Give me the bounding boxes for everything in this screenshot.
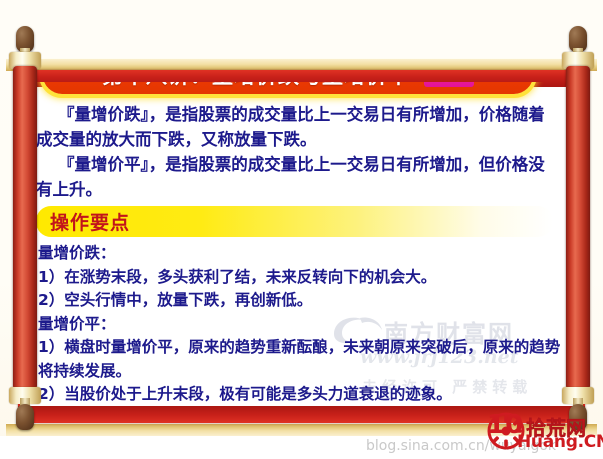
chapter-badge: 第三章 bbox=[424, 82, 474, 87]
logo-domain: Huang.CN bbox=[517, 432, 603, 452]
slide-title-bar: 第十八讲：量增价跌与量增价平 第三章 bbox=[43, 82, 533, 94]
section-header-label: 操作要点 bbox=[50, 208, 130, 235]
slide-stage: 南方财富网 www.jrj123.net 未经许可 严禁转载 第十八讲：量增价跌… bbox=[0, 0, 603, 459]
page-title: 第十八讲：量增价跌与量增价平 bbox=[102, 82, 410, 90]
scroll-roller-right bbox=[561, 16, 595, 440]
section-header-bar: 操作要点 bbox=[36, 206, 553, 237]
key-point-item: 2）当股价处于上升末段，极有可能是多头力道衰退的迹象。 bbox=[38, 383, 563, 407]
slide-title-row: 第十八讲：量增价跌与量增价平 第三章 bbox=[43, 82, 533, 94]
key-point-item: 1）横盘时量增价平，原来的趋势重新酝酿，未来朝原来突破后，原来的趋势将持续发展。 bbox=[38, 336, 563, 383]
definition-paragraph: 『量增价跌』，是指股票的成交量比上一交易日有所增加，价格随着成交量的放大而下跌，… bbox=[36, 102, 556, 152]
scroll-finial-bottom-left bbox=[16, 404, 34, 430]
site-logo: 10 拾荒网 Huang.CN bbox=[486, 412, 603, 452]
key-point-item: 2）空头行情中，放量下跌，再创新低。 bbox=[38, 289, 563, 313]
key-points-list: 量增价跌： 1）在涨势末段，多头获利了结，未来反转向下的机会大。 2）空头行情中… bbox=[38, 242, 563, 407]
slide-content: 南方财富网 www.jrj123.net 未经许可 严禁转载 第十八讲：量增价跌… bbox=[34, 82, 569, 412]
key-points-heading: 量增价平： bbox=[38, 313, 563, 337]
scroll-rod-right bbox=[566, 66, 590, 390]
scroll-roller-left bbox=[8, 16, 42, 440]
definition-paragraph: 『量增价平』，是指股票的成交量比上一交易日有所增加，但价格没有上升。 bbox=[36, 152, 556, 202]
scroll-rod-left bbox=[13, 66, 37, 390]
definition-paragraphs: 『量增价跌』，是指股票的成交量比上一交易日有所增加，价格随着成交量的放大而下跌，… bbox=[36, 102, 556, 202]
key-point-item: 1）在涨势末段，多头获利了结，未来反转向下的机会大。 bbox=[38, 266, 563, 290]
key-points-heading: 量增价跌： bbox=[38, 242, 563, 266]
